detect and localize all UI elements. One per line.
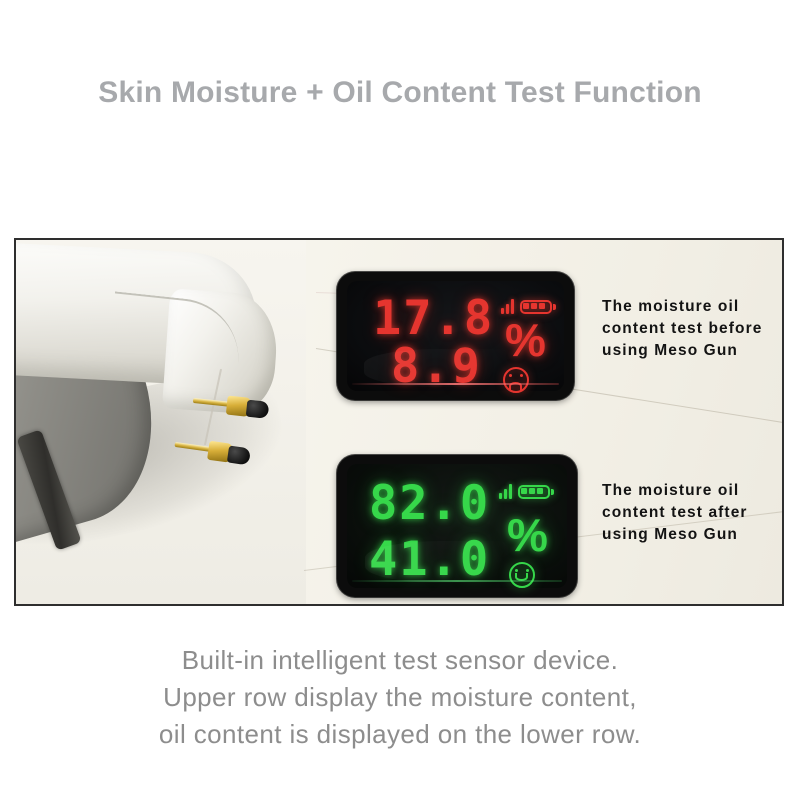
lcd-display-after: 82.0 41.0 % — [337, 455, 577, 597]
product-feature-page: Skin Moisture + Oil Content Test Functio… — [0, 0, 800, 800]
page-title: Skin Moisture + Oil Content Test Functio… — [0, 76, 800, 110]
display-baseline — [352, 580, 562, 582]
status-icons-after — [499, 484, 550, 499]
sad-face-icon — [503, 367, 529, 393]
description-line-2: Upper row display the moisture content, — [0, 679, 800, 716]
oil-reading-after: 41.0 — [369, 536, 490, 583]
moisture-reading-before: 17.8 — [373, 295, 494, 342]
description-block: Built-in intelligent test sensor device.… — [0, 642, 800, 753]
caption-before: The moisture oil content test before usi… — [602, 296, 762, 362]
lcd-screen-after: 82.0 41.0 % — [347, 464, 567, 588]
percent-symbol-after: % — [507, 512, 548, 558]
description-line-3: oil content is displayed on the lower ro… — [0, 716, 800, 753]
meso-gun-device — [16, 240, 316, 604]
percent-symbol-before: % — [505, 317, 546, 363]
moisture-reading-after: 82.0 — [369, 480, 490, 527]
product-photo-frame: 17.8 8.9 % — [14, 238, 784, 606]
description-line-1: Built-in intelligent test sensor device. — [0, 642, 800, 679]
signal-bars-icon — [501, 299, 514, 314]
display-baseline — [352, 383, 559, 385]
happy-face-icon — [509, 562, 535, 588]
caption-after: The moisture oil content test after usin… — [602, 480, 748, 546]
lcd-display-before: 17.8 8.9 % — [337, 272, 574, 400]
status-icons-before — [501, 299, 552, 314]
lcd-screen-before: 17.8 8.9 % — [347, 281, 564, 391]
signal-bars-icon — [499, 484, 512, 499]
battery-icon — [518, 485, 550, 499]
battery-icon — [520, 300, 552, 314]
